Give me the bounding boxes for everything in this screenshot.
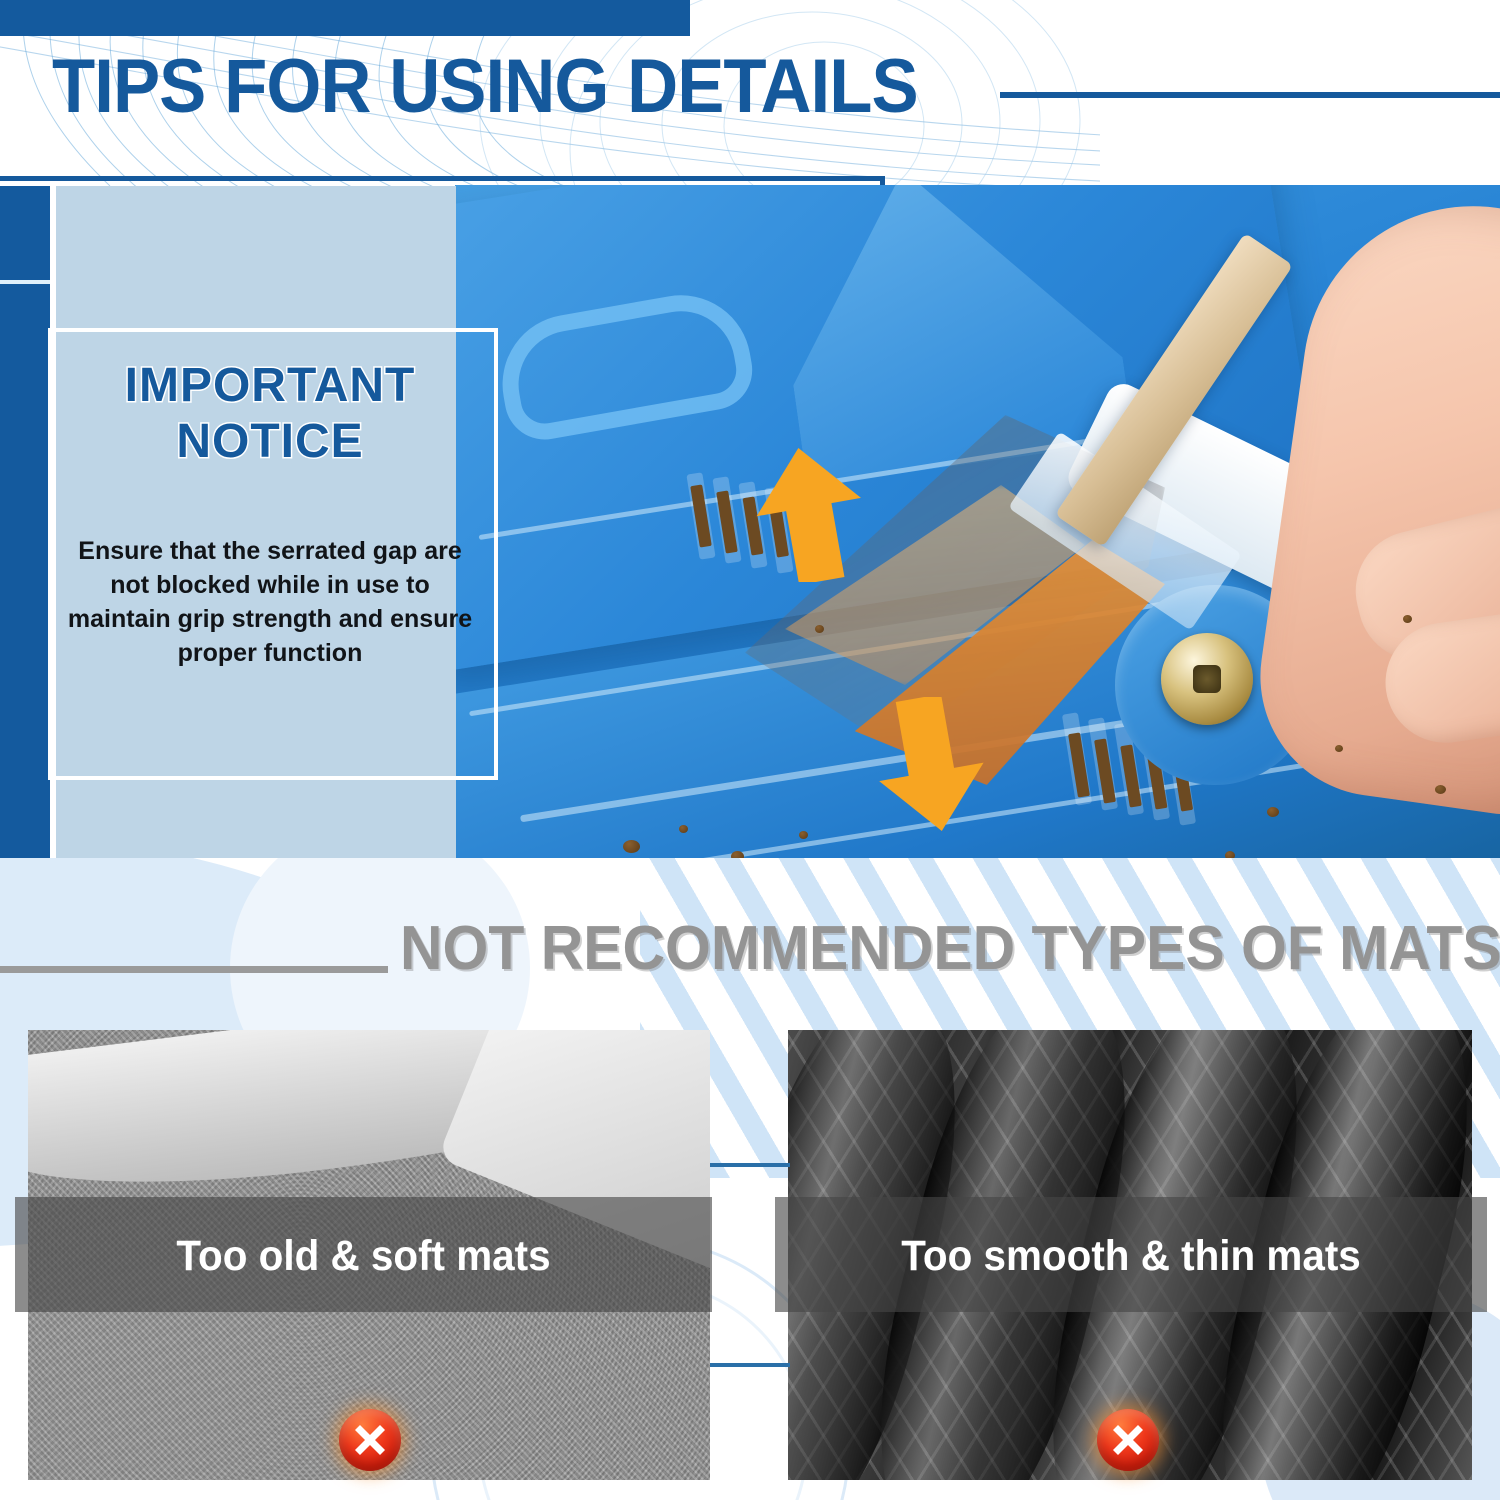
not-recommended-section: NOT RECOMMENDED TYPES OF MATS	[0, 858, 1500, 1500]
arrow-up-brush-direction	[755, 447, 865, 582]
important-notice-body: Ensure that the serrated gap are not blo…	[60, 534, 480, 670]
section-title: NOT RECOMMENDED TYPES OF MATS	[400, 914, 1436, 984]
notice-title-line1: IMPORTANT	[125, 359, 416, 412]
section-title-rule	[0, 966, 388, 973]
header-underline	[0, 176, 885, 181]
arrow-down-brush-direction	[875, 697, 985, 832]
panel-connector-top	[710, 1163, 790, 1167]
x-mark-icon-left	[339, 1409, 401, 1471]
panel-connector-bottom	[710, 1363, 790, 1367]
notice-title-line2: NOTICE	[176, 415, 363, 468]
header-accent-bar	[0, 0, 690, 36]
page-title: TIPS FOR USING DETAILS	[52, 46, 982, 128]
left-accent-strip	[0, 186, 50, 858]
left-accent-strip-notch	[0, 280, 50, 284]
x-mark-icon-right	[1097, 1409, 1159, 1471]
important-notice-title: IMPORTANT NOTICE	[60, 358, 480, 470]
tips-section: TIPS FOR USING DETAILS	[0, 0, 1500, 858]
mat-label-too-old-soft: Too old & soft mats	[36, 1228, 691, 1284]
header-title-rule	[1000, 92, 1500, 98]
infographic-page: TIPS FOR USING DETAILS	[0, 0, 1500, 1500]
mat-label-too-smooth-thin: Too smooth & thin mats	[796, 1228, 1465, 1284]
product-photo-brush-cleaning	[455, 185, 1500, 858]
